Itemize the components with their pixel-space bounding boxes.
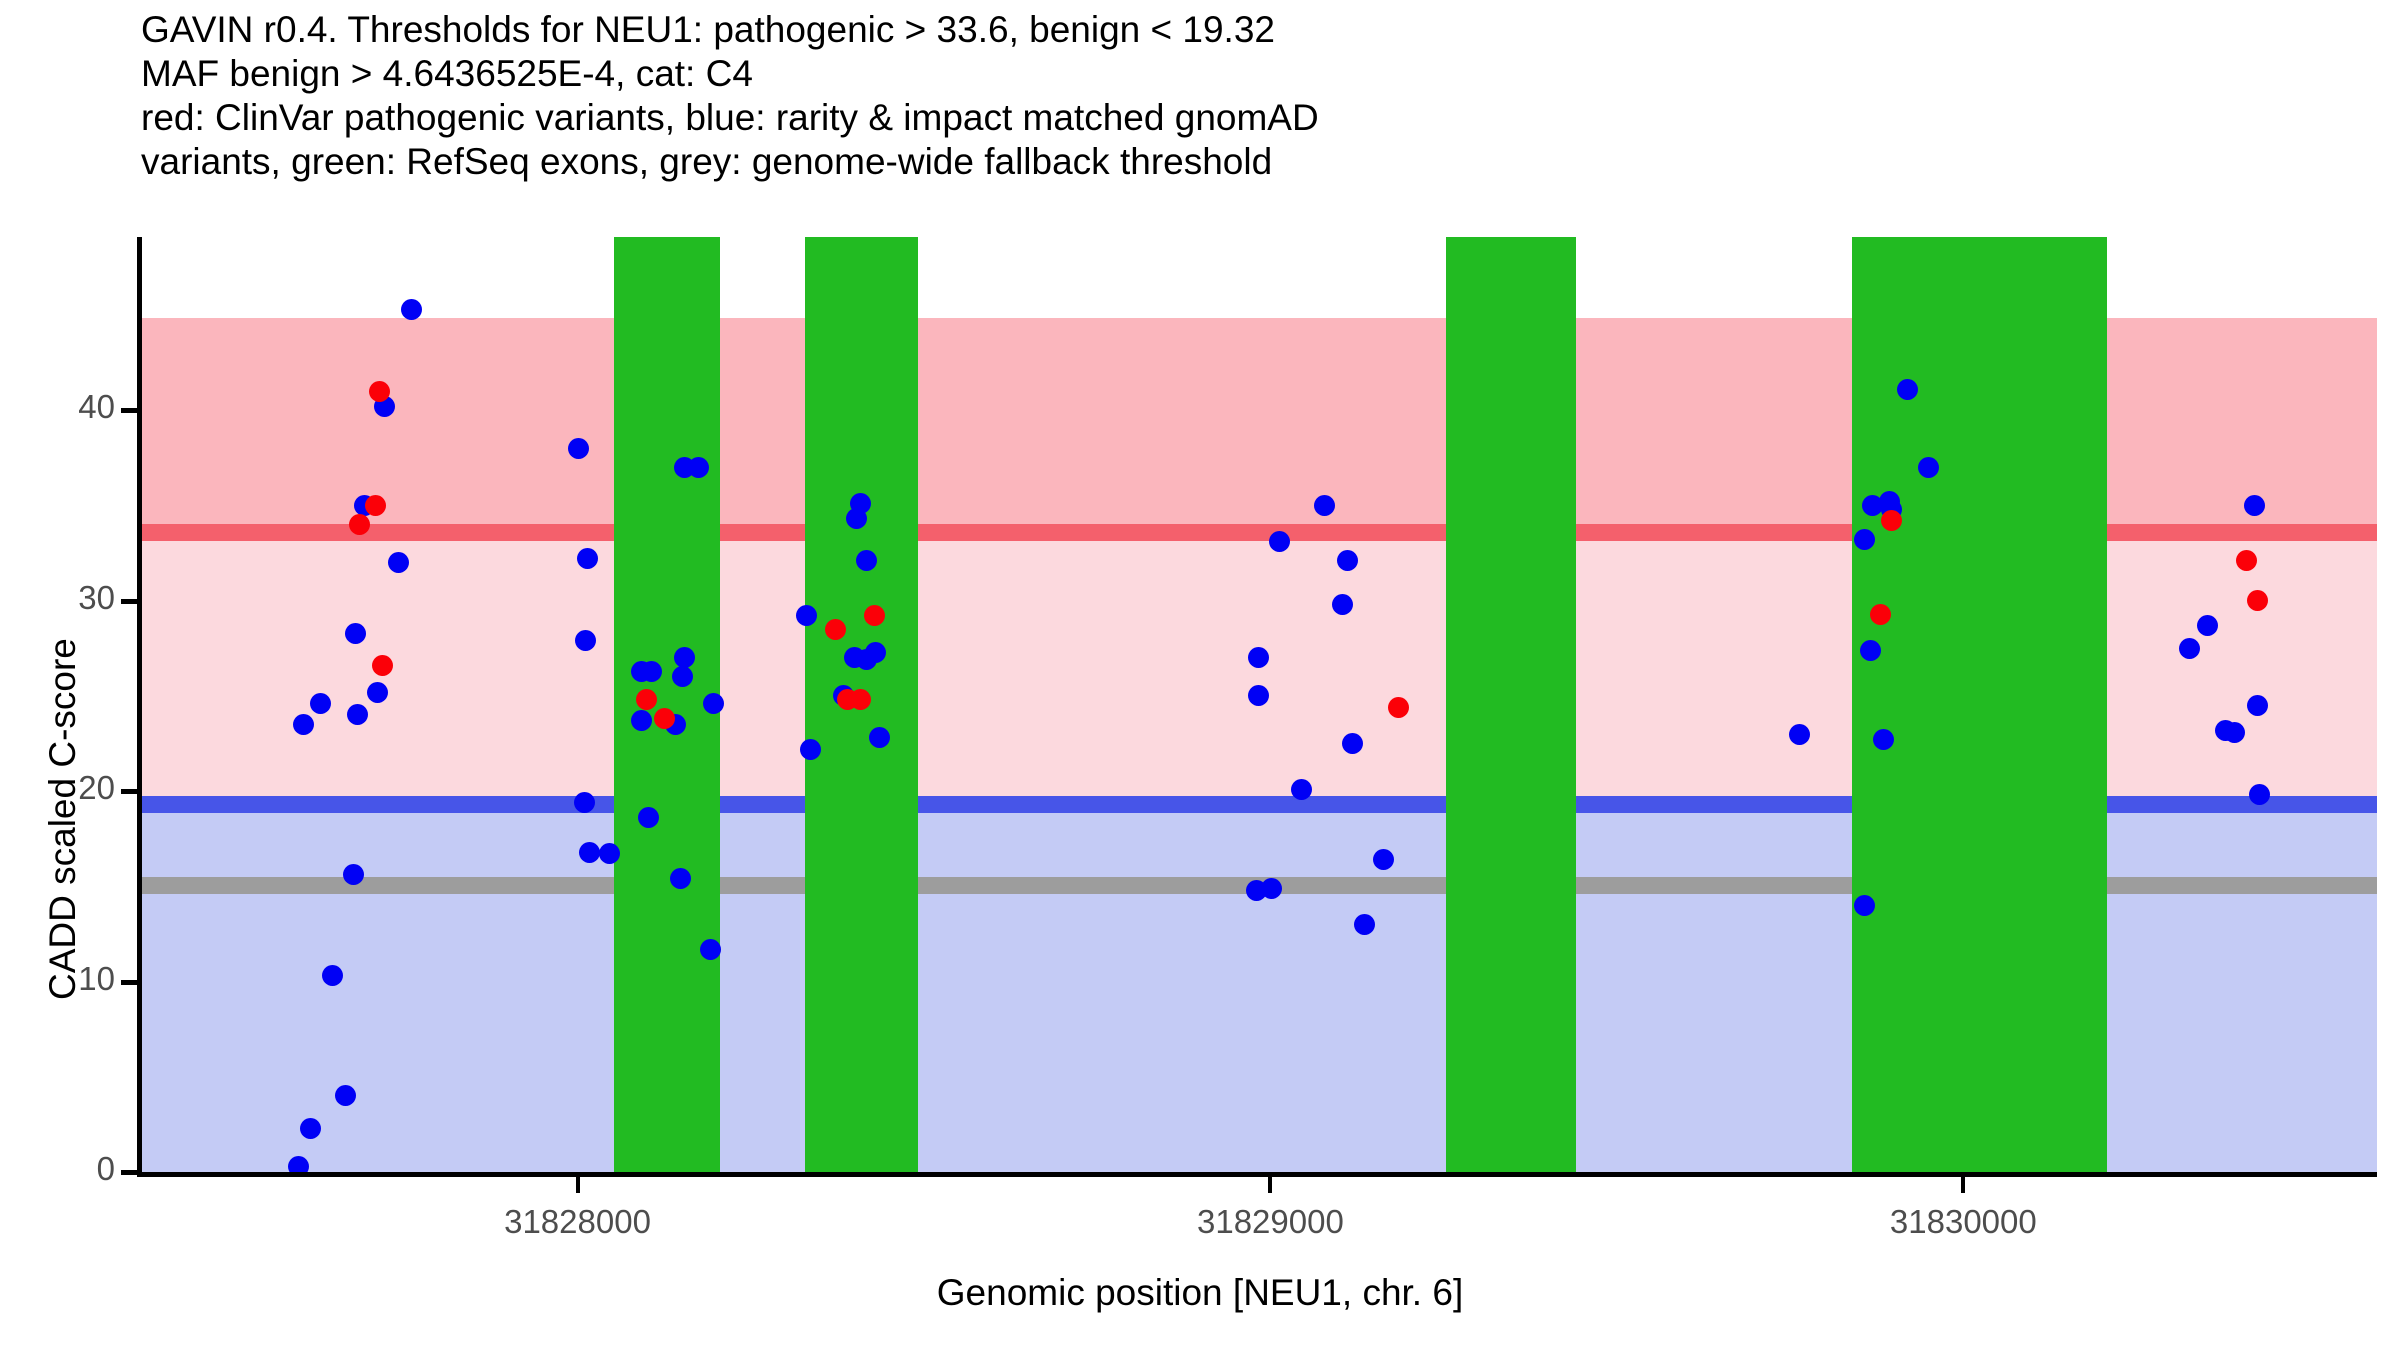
x-tick-31830000	[1961, 1177, 1965, 1193]
y-tick-label-0: 0	[0, 1150, 115, 1188]
y-axis-title: CADD scaled C-score	[42, 638, 84, 1000]
y-tick-label-30: 30	[0, 579, 115, 617]
exon-band-4	[1852, 237, 2107, 1172]
benign-threshold-line-seg-2	[720, 796, 805, 813]
chart-root: GAVIN r0.4. Thresholds for NEU1: pathoge…	[0, 0, 2400, 1350]
gnomad-variant-point	[800, 739, 821, 760]
fallback-threshold-line-seg-2	[720, 877, 805, 894]
gnomad-variant-point	[2224, 722, 2245, 743]
gnomad-variant-point	[1918, 457, 1939, 478]
gnomad-variant-point	[2247, 695, 2268, 716]
benign-threshold-line-seg-3	[918, 796, 1446, 813]
gnomad-variant-point	[579, 842, 600, 863]
gnomad-variant-point	[796, 605, 817, 626]
x-tick-label-31830000: 31830000	[1813, 1203, 2113, 1241]
clinvar-variant-point	[1881, 510, 1902, 531]
chart-title-block: GAVIN r0.4. Thresholds for NEU1: pathoge…	[141, 8, 2341, 184]
gnomad-variant-point	[641, 661, 662, 682]
gnomad-variant-point	[1897, 379, 1918, 400]
y-tick-20	[121, 789, 137, 794]
gnomad-variant-point	[1269, 531, 1290, 552]
y-tick-label-40: 40	[0, 388, 115, 426]
x-tick-31829000	[1268, 1177, 1272, 1193]
gnomad-variant-point	[1373, 849, 1394, 870]
pathogenic-threshold-line-seg-1	[141, 524, 614, 541]
gnomad-variant-point	[300, 1118, 321, 1139]
y-tick-40	[121, 408, 137, 413]
benign-threshold-line-seg-1	[141, 796, 614, 813]
gnomad-variant-point	[1789, 724, 1810, 745]
gnomad-variant-point	[1314, 495, 1335, 516]
gnomad-variant-point	[1261, 878, 1282, 899]
gnomad-variant-point	[2244, 495, 2265, 516]
gnomad-variant-point	[293, 714, 314, 735]
fallback-threshold-line-seg-4	[1576, 877, 1852, 894]
gnomad-variant-point	[388, 552, 409, 573]
exon-band-3	[1446, 237, 1576, 1172]
gnomad-variant-point	[1860, 640, 1881, 661]
title-line-1: GAVIN r0.4. Thresholds for NEU1: pathoge…	[141, 8, 2341, 52]
fallback-threshold-line-seg-5	[2107, 877, 2377, 894]
gnomad-variant-point	[1332, 594, 1353, 615]
clinvar-variant-point	[1388, 697, 1409, 718]
clinvar-variant-point	[349, 514, 370, 535]
gnomad-variant-point	[345, 623, 366, 644]
gnomad-variant-point	[631, 710, 652, 731]
pathogenic-threshold-line-seg-4	[1576, 524, 1852, 541]
title-line-2: MAF benign > 4.6436525E-4, cat: C4	[141, 52, 2341, 96]
gnomad-variant-point	[2197, 615, 2218, 636]
title-line-4: variants, green: RefSeq exons, grey: gen…	[141, 140, 2341, 184]
clinvar-variant-point	[1870, 604, 1891, 625]
gnomad-variant-point	[688, 457, 709, 478]
x-tick-31828000	[576, 1177, 580, 1193]
x-tick-label-31829000: 31829000	[1120, 1203, 1420, 1241]
fallback-threshold-line-seg-3	[918, 877, 1446, 894]
x-axis-line	[137, 1172, 2377, 1177]
clinvar-variant-point	[2247, 590, 2268, 611]
pathogenic-threshold-line-seg-5	[2107, 524, 2377, 541]
gnomad-variant-point	[865, 642, 886, 663]
benign-threshold-line-seg-5	[2107, 796, 2377, 813]
gnomad-variant-point	[670, 868, 691, 889]
gnomad-variant-point	[574, 792, 595, 813]
title-line-3: red: ClinVar pathogenic variants, blue: …	[141, 96, 2341, 140]
y-tick-10	[121, 980, 137, 985]
gnomad-variant-point	[1354, 914, 1375, 935]
x-axis-title: Genomic position [NEU1, chr. 6]	[0, 1272, 2400, 1314]
y-axis-line	[137, 237, 142, 1172]
gnomad-variant-point	[638, 807, 659, 828]
gnomad-variant-point	[703, 693, 724, 714]
fallback-threshold-line-seg-1	[141, 877, 614, 894]
gnomad-variant-point	[322, 965, 343, 986]
plot-panel	[141, 237, 2377, 1172]
gnomad-variant-point	[310, 693, 331, 714]
gnomad-variant-point	[401, 299, 422, 320]
gnomad-variant-point	[1291, 779, 1312, 800]
y-tick-30	[121, 599, 137, 604]
x-tick-label-31828000: 31828000	[428, 1203, 728, 1241]
pathogenic-threshold-line-seg-2	[720, 524, 805, 541]
gnomad-variant-point	[343, 864, 364, 885]
clinvar-variant-point	[369, 381, 390, 402]
clinvar-variant-point	[864, 605, 885, 626]
gnomad-variant-point	[367, 682, 388, 703]
gnomad-variant-point	[1337, 550, 1358, 571]
y-tick-0	[121, 1170, 137, 1175]
benign-threshold-line-seg-4	[1576, 796, 1852, 813]
pathogenic-threshold-line-seg-3	[918, 524, 1446, 541]
gnomad-variant-point	[700, 939, 721, 960]
